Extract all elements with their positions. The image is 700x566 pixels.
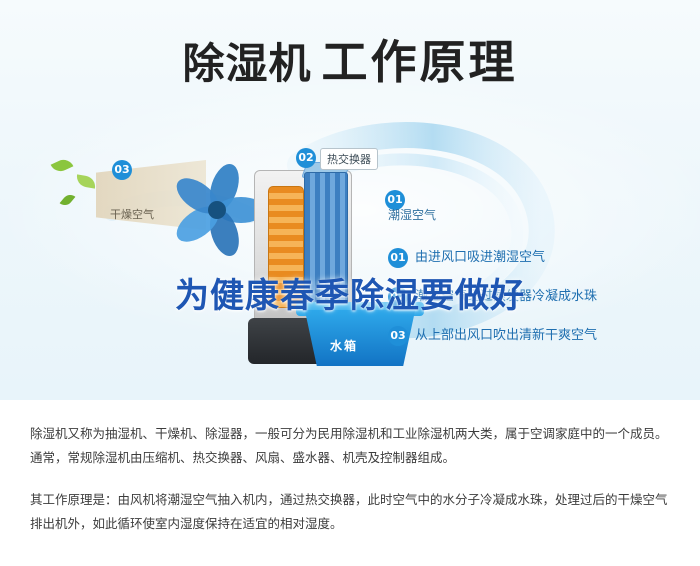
badge-03-diagram: 03 bbox=[112, 160, 132, 180]
article-paragraph-1: 除湿机又称为抽湿机、干燥机、除湿器，一般可分为民用除湿机和工业除湿机两大类，属于… bbox=[30, 422, 670, 470]
overlay-headline: 为健康春季除湿要做好 bbox=[0, 268, 700, 317]
article-line: 通常，常规除湿机由压缩机、热交换器、风扇、盛水器、机壳及控制器组成。 bbox=[30, 446, 670, 470]
step-item: 01 由进风口吸进潮湿空气 bbox=[388, 248, 688, 268]
heat-exchanger-tag: 热交换器 bbox=[320, 148, 378, 170]
article-body: 除湿机又称为抽湿机、干燥机、除湿器，一般可分为民用除湿机和工业除湿机两大类，属于… bbox=[0, 400, 700, 566]
diagram-illustration: 除湿机工作原理 bbox=[0, 0, 700, 400]
article-line: 其工作原理是：由风机将潮湿空气抽入机内，通过热交换器，此时空气中的水分子冷凝成水… bbox=[30, 488, 670, 512]
article-line: 排出机外，如此循环使室内湿度保持在适宜的相对湿度。 bbox=[30, 512, 670, 536]
article-line: 除湿机又称为抽湿机、干燥机、除湿器，一般可分为民用除湿机和工业除湿机两大类，属于… bbox=[30, 422, 670, 446]
badge-step-03: 03 bbox=[388, 326, 408, 346]
step-text: 由进风口吸进潮湿空气 bbox=[415, 248, 545, 268]
page-title-part1: 除湿机 bbox=[182, 39, 311, 88]
badge-step-01: 01 bbox=[388, 248, 408, 268]
step-item: 03 从上部出风口吹出清新干爽空气 bbox=[388, 326, 688, 346]
article-paragraph-2: 其工作原理是：由风机将潮湿空气抽入机内，通过热交换器，此时空气中的水分子冷凝成水… bbox=[30, 488, 670, 536]
moist-air-label: 潮湿空气 bbox=[388, 206, 436, 223]
page-title: 除湿机工作原理 bbox=[0, 26, 700, 92]
page-title-part2: 工作原理 bbox=[322, 35, 518, 89]
water-tank-label: 水箱 bbox=[330, 337, 358, 354]
step-text: 从上部出风口吹出清新干爽空气 bbox=[415, 326, 597, 346]
page-root: 除湿机工作原理 bbox=[0, 0, 700, 566]
dry-air-label: 干燥空气 bbox=[110, 206, 154, 222]
badge-02-diagram: 02 bbox=[296, 148, 316, 168]
